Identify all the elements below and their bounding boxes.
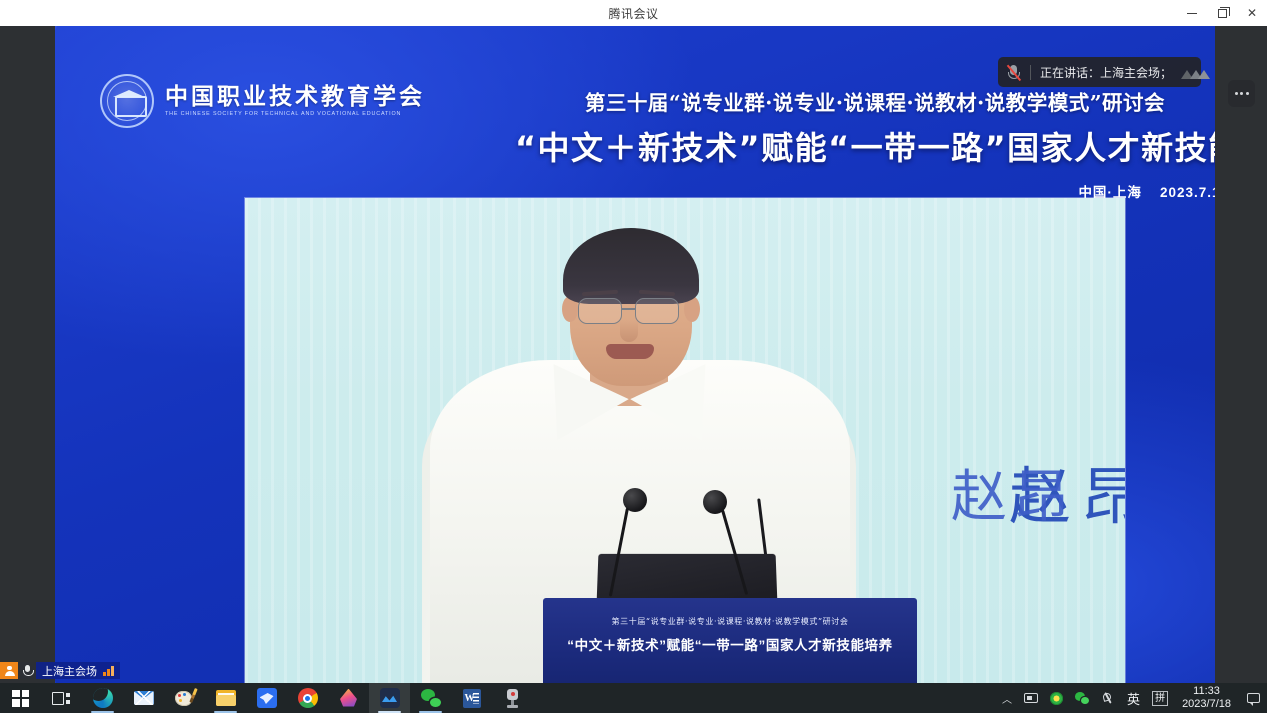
tray-pen-button[interactable] <box>1095 683 1121 713</box>
edge-icon <box>93 688 113 708</box>
window-controls: ✕ <box>1177 0 1267 26</box>
taskbar-apps: W <box>0 683 533 713</box>
taskbar-app-chrome[interactable] <box>287 683 328 713</box>
folder-icon <box>216 690 236 706</box>
restore-icon <box>1218 9 1227 18</box>
tray-display-button[interactable] <box>1018 683 1044 713</box>
clock-date: 2023/7/18 <box>1182 698 1231 711</box>
podium-banner: 第三十届“说专业群·说专业·说课程·说教材·说教学模式”研讨会 “中文＋新技术”… <box>543 598 917 683</box>
notification-icon <box>1247 693 1260 703</box>
stage-overlay-name: 赵昂 <box>951 452 1075 533</box>
active-speaker-label: 正在讲话：上海主会场； <box>1040 64 1172 81</box>
society-name-en: THE CHINESE SOCIETY FOR TECHNICAL AND VO… <box>165 111 425 117</box>
taskbar-app-recorder[interactable] <box>492 683 533 713</box>
divider <box>1030 65 1031 80</box>
notification-center-button[interactable] <box>1239 683 1267 713</box>
taskbar-app-wechat[interactable] <box>410 683 451 713</box>
taskbar-app-tencent-meeting[interactable] <box>369 683 410 713</box>
video-feed[interactable]: 赵昂 <box>245 198 1125 683</box>
graduation-cap-icon <box>113 90 145 97</box>
tencent-meeting-icon <box>380 688 400 708</box>
chevron-up-icon: ︿ <box>1002 691 1012 706</box>
security-shield-icon <box>1050 692 1063 705</box>
dot <box>1246 92 1249 95</box>
signal-strength-icon <box>103 662 120 679</box>
self-status-badge[interactable]: 上海主会场 <box>0 662 120 679</box>
ime-mode-label: 拼 <box>1152 691 1168 706</box>
shared-screen-stage[interactable]: 中国职业技术教育学会 THE CHINESE SOCIETY FOR TECHN… <box>55 26 1215 683</box>
bird-app-icon <box>257 688 277 708</box>
word-icon: W <box>463 689 481 708</box>
taskbar-app-paint[interactable] <box>164 683 205 713</box>
more-options-button[interactable] <box>1228 80 1255 107</box>
windows-taskbar: W ︿ 英 拼 11:33 2023/7/18 <box>0 683 1267 713</box>
close-icon: ✕ <box>1247 7 1257 19</box>
podium-title: “中文＋新技术”赋能“一带一路”国家人才新技能培养 <box>543 634 917 654</box>
minimize-icon <box>1187 13 1197 14</box>
banner-date: 2023.7.18 <box>1160 185 1215 200</box>
taskbar-app-bird[interactable] <box>246 683 287 713</box>
microphone-muted-icon <box>1006 64 1021 81</box>
task-view-icon <box>52 691 71 706</box>
tray-wechat-button[interactable] <box>1069 683 1095 713</box>
tray-clock[interactable]: 11:33 2023/7/18 <box>1174 683 1239 713</box>
system-tray: ︿ 英 拼 11:33 2023/7/18 <box>996 683 1267 713</box>
start-button[interactable] <box>0 683 41 713</box>
status-badge-label: 上海主会场 <box>36 662 103 679</box>
taskbar-app-drop[interactable] <box>328 683 369 713</box>
drop-app-icon <box>340 689 357 708</box>
audio-wave-icon <box>1181 65 1209 79</box>
banner-title: “中文＋新技术”赋能“一带一路”国家人才新技能培养 <box>515 123 1215 169</box>
emblem-icon <box>100 74 154 128</box>
taskbar-app-word[interactable]: W <box>451 683 492 713</box>
active-speaker-pill[interactable]: 正在讲话：上海主会场； <box>998 57 1201 87</box>
nose <box>620 320 638 342</box>
podium-subtitle: 第三十届“说专业群·说专业·说课程·说教材·说教学模式”研讨会 <box>543 616 917 627</box>
tray-expand-button[interactable]: ︿ <box>996 683 1018 713</box>
society-logo: 中国职业技术教育学会 THE CHINESE SOCIETY FOR TECHN… <box>100 74 425 128</box>
meeting-window-body: 中国职业技术教育学会 THE CHINESE SOCIETY FOR TECHN… <box>0 26 1267 683</box>
taskbar-app-mail[interactable] <box>123 683 164 713</box>
banner-subtitle: 第三十届“说专业群·说专业·说课程·说教材·说教学模式”研讨会 <box>515 86 1215 116</box>
wechat-icon <box>1075 692 1089 704</box>
window-title: 腾讯会议 <box>608 5 658 22</box>
eyeglass-bridge <box>622 308 635 310</box>
minimize-button[interactable] <box>1177 0 1207 26</box>
maximize-button[interactable] <box>1207 0 1237 26</box>
dot <box>1235 92 1238 95</box>
dot <box>1240 92 1243 95</box>
wechat-icon <box>421 689 441 707</box>
conference-banner: 第三十届“说专业群·说专业·说课程·说教材·说教学模式”研讨会 “中文＋新技术”… <box>515 86 1215 201</box>
mouth <box>606 344 654 359</box>
eyeglass-lens-right <box>635 298 679 324</box>
microphone-right <box>703 490 727 514</box>
microphone-icon[interactable] <box>18 662 36 679</box>
mail-icon <box>134 691 154 705</box>
society-name-cn: 中国职业技术教育学会 <box>165 85 425 109</box>
display-icon <box>1024 693 1038 703</box>
task-view-button[interactable] <box>41 683 82 713</box>
tray-ime-language[interactable]: 英 <box>1121 683 1146 713</box>
paint-icon <box>175 689 195 707</box>
tray-security-button[interactable] <box>1044 683 1069 713</box>
taskbar-app-edge[interactable] <box>82 683 123 713</box>
clock-time: 11:33 <box>1193 685 1220 698</box>
society-logo-text: 中国职业技术教育学会 THE CHINESE SOCIETY FOR TECHN… <box>165 85 425 117</box>
tray-ime-mode[interactable]: 拼 <box>1146 683 1174 713</box>
chrome-icon <box>298 688 318 708</box>
microphone-left <box>623 488 647 512</box>
recorder-icon <box>506 689 519 708</box>
eyeglass-lens-left <box>578 298 622 324</box>
pen-icon <box>1101 691 1115 705</box>
person-icon <box>0 662 18 679</box>
windows-logo-icon <box>12 690 29 707</box>
taskbar-app-file-explorer[interactable] <box>205 683 246 713</box>
ime-language-label: 英 <box>1127 689 1140 708</box>
close-button[interactable]: ✕ <box>1237 0 1267 26</box>
window-title-bar: 腾讯会议 ✕ <box>0 0 1267 26</box>
